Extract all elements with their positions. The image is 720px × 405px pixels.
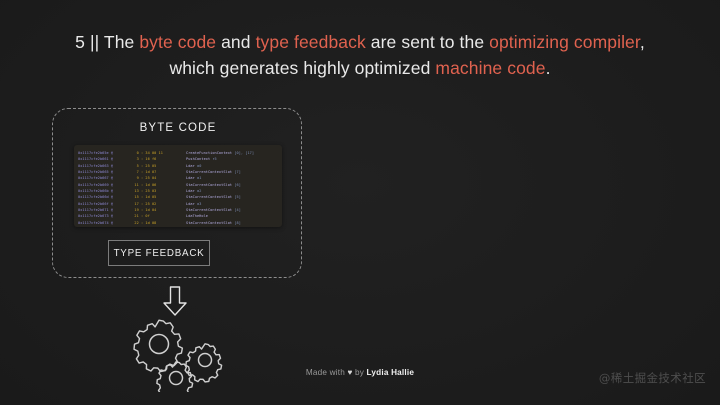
headline-text-4: , (640, 32, 645, 52)
code-lines: 0x1117cfe2b65e @ 0 : 34 00 11CreateFunct… (78, 150, 282, 226)
headline-text-5: which generates highly optimized (169, 58, 435, 78)
code-address: 0x1117cfe2b674 @ (78, 220, 130, 226)
code-operand: [4] (232, 207, 241, 213)
headline-text-6: . (546, 58, 551, 78)
headline-text-2: and (216, 32, 255, 52)
page-title: 5 || The byte code and type feedback are… (0, 30, 720, 81)
code-operand: [8] (232, 220, 241, 226)
gears-icon (128, 316, 232, 392)
slide-canvas: 5 || The byte code and type feedback are… (0, 0, 720, 405)
made-with-prefix: Made with (306, 368, 348, 377)
type-feedback-box: TYPE FEEDBACK (108, 240, 210, 266)
code-instruction: StaCurrentContextSlot (186, 220, 232, 226)
step-number: 5 || (75, 32, 104, 52)
headline-text-1: The (104, 32, 139, 52)
term-type-feedback: type feedback (256, 32, 366, 52)
code-bytes: 22 : 1d 08 (130, 220, 186, 226)
term-byte-code: byte code (139, 32, 216, 52)
term-machine-code: machine code (435, 58, 545, 78)
code-operand: [7] (232, 169, 241, 175)
code-operand: [5] (232, 194, 241, 200)
bytecode-container: BYTE CODE 0x1117cfe2b65e @ 0 : 34 00 11C… (52, 108, 302, 278)
code-operand: r5 (210, 156, 217, 162)
author-name: Lydia Hallie (367, 368, 415, 377)
code-line: 0x1117cfe2b674 @ 22 : 1d 08StaCurrentCon… (78, 220, 282, 226)
code-operand: [6] (232, 182, 241, 188)
made-with-mid: by (353, 368, 367, 377)
headline-text-3: are sent to the (366, 32, 489, 52)
code-operand: [0], [17] (232, 150, 254, 156)
headline-line-1: 5 || The byte code and type feedback are… (0, 30, 720, 56)
watermark: @稀土掘金技术社区 (599, 370, 706, 386)
type-feedback-label: TYPE FEEDBACK (114, 248, 205, 259)
term-optimizing-compiler: optimizing compiler (489, 32, 640, 52)
arrow-down-icon (161, 286, 189, 316)
headline-line-2: which generates highly optimized machine… (0, 56, 720, 82)
bytecode-listing: 0x1117cfe2b65e @ 0 : 34 00 11CreateFunct… (74, 145, 282, 227)
bytecode-title: BYTE CODE (53, 122, 303, 134)
